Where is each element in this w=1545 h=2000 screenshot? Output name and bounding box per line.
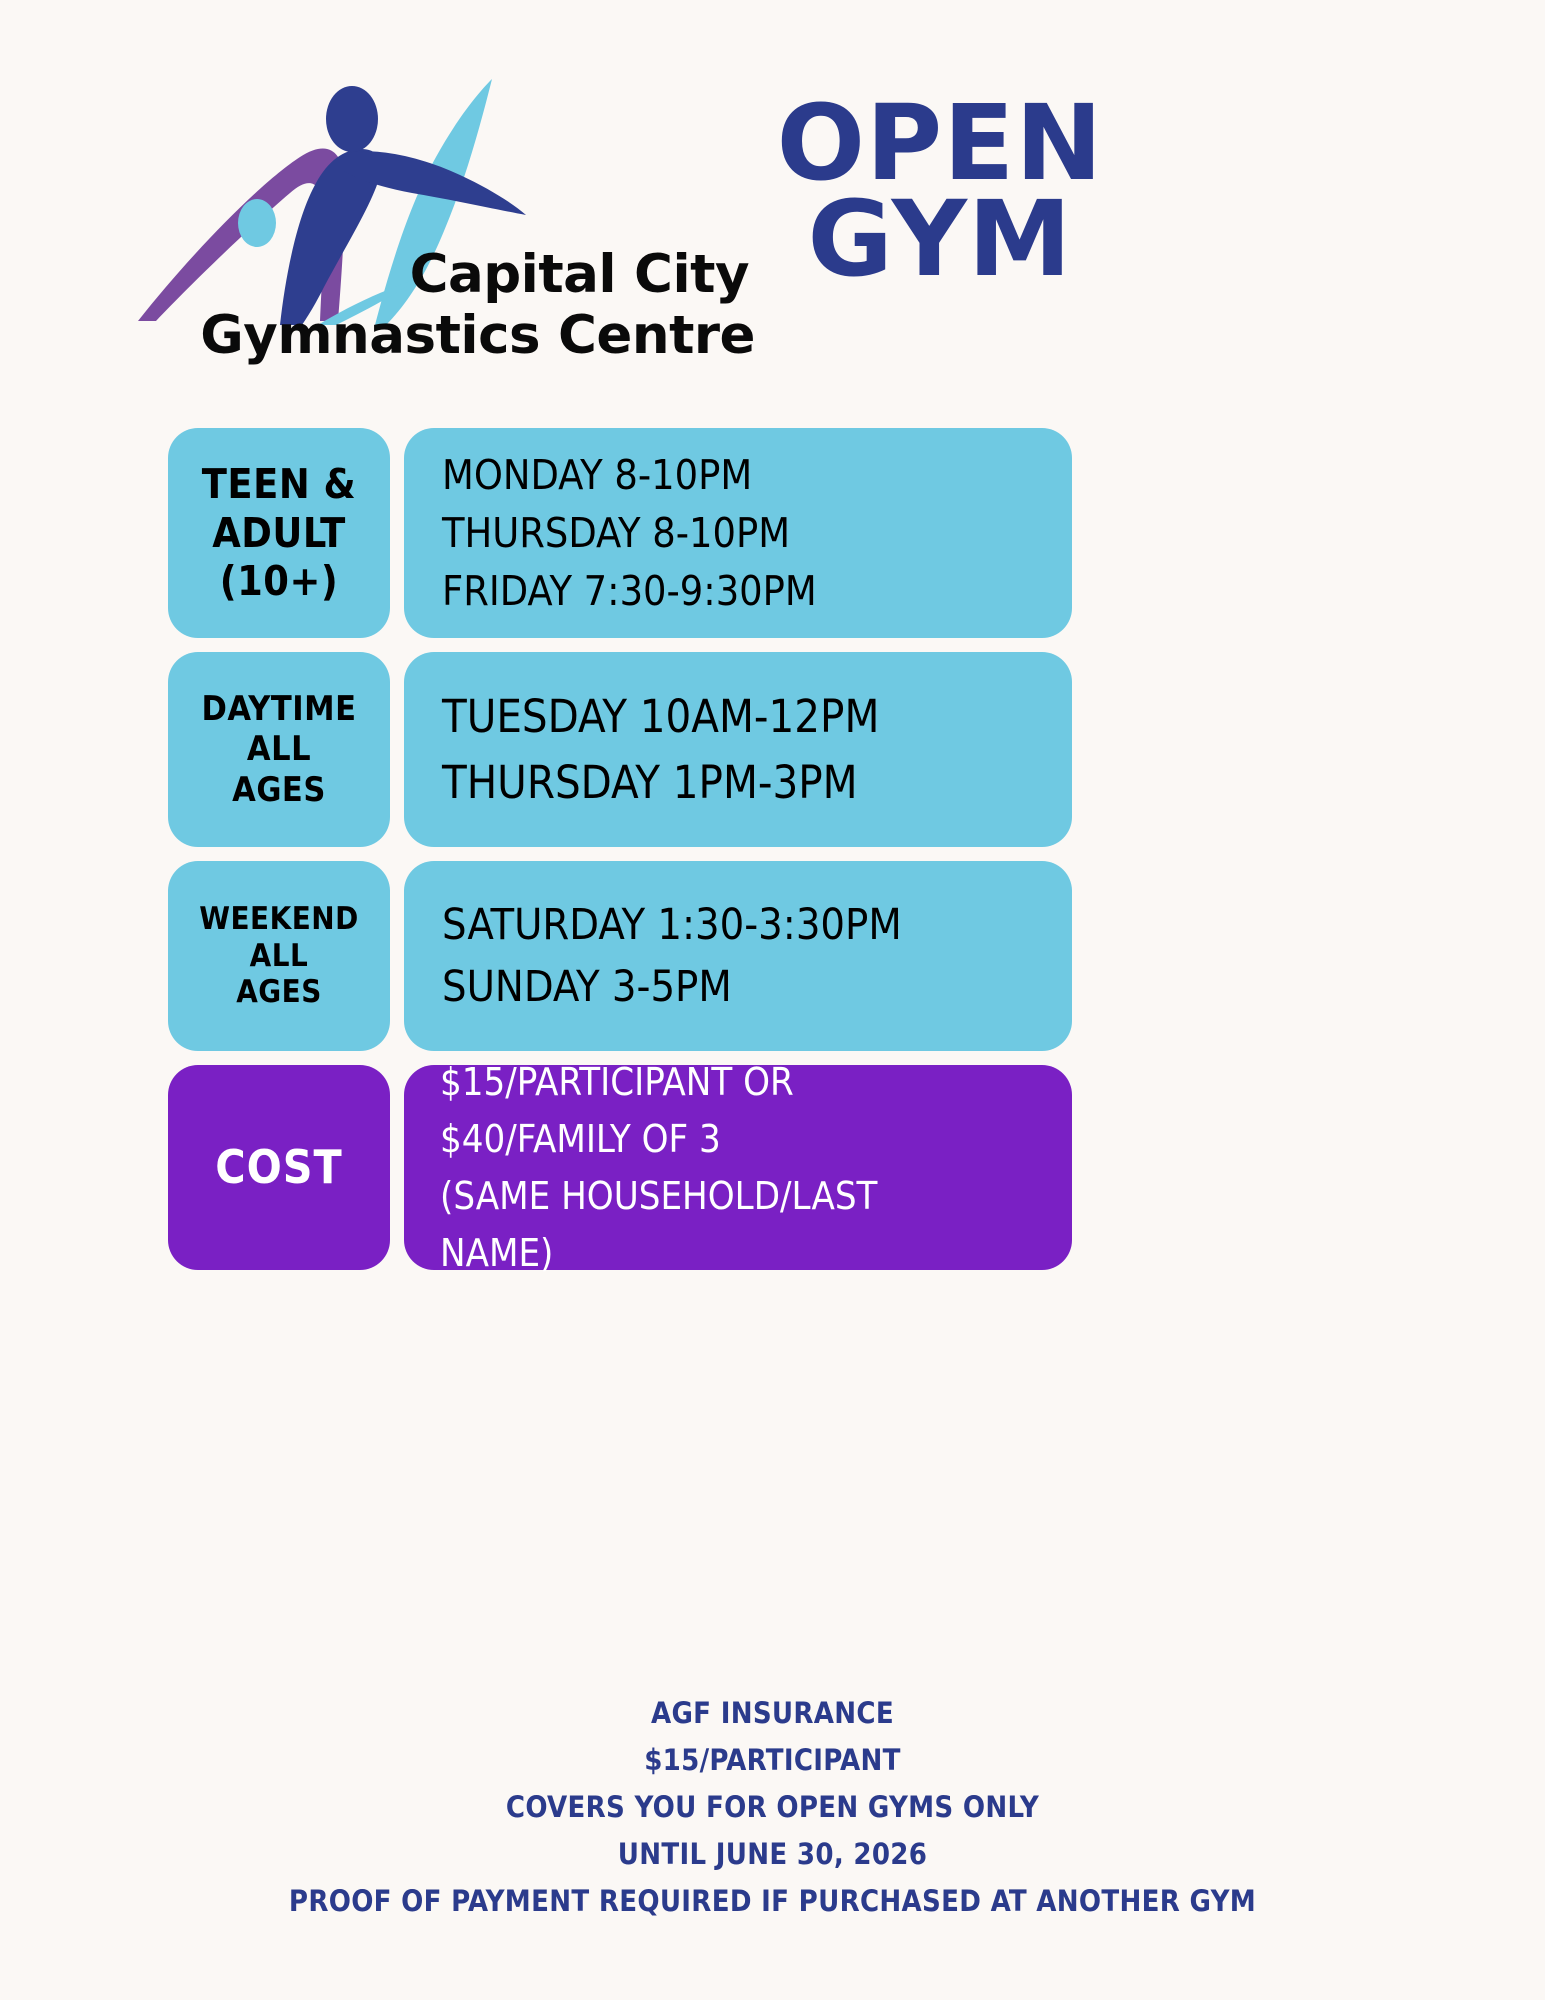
cost-details: $15/PARTICIPANT OR $40/FAMILY OF 3 (SAME… xyxy=(404,1065,1072,1270)
footnote-line: COVERS YOU FOR OPEN GYMS ONLY xyxy=(0,1784,1545,1831)
cost-line: $40/FAMILY OF 3 xyxy=(440,1111,1042,1168)
table-row: WEEKEND ALL AGES SATURDAY 1:30-3:30PM SU… xyxy=(168,861,1072,1051)
logo-wordmark: Capital City Gymnastics Centre xyxy=(195,248,755,362)
footnote-line: AGF INSURANCE xyxy=(0,1690,1545,1737)
insurance-footnote: AGF INSURANCE $15/PARTICIPANT COVERS YOU… xyxy=(0,1690,1545,1925)
footnote-line: UNTIL JUNE 30, 2026 xyxy=(0,1831,1545,1878)
schedule-time-line: SATURDAY 1:30-3:30PM xyxy=(442,894,1042,956)
cost-line: $15/PARTICIPANT OR xyxy=(440,1054,1042,1111)
cost-line: (SAME HOUSEHOLD/LAST xyxy=(440,1168,1042,1225)
schedule-row-times: TUESDAY 10AM-12PM THURSDAY 1PM-3PM xyxy=(404,652,1072,847)
column-seam-divider xyxy=(391,424,402,1724)
schedule-row-times: MONDAY 8-10PM THURSDAY 8-10PM FRIDAY 7:3… xyxy=(404,428,1072,638)
footnote-line: PROOF OF PAYMENT REQUIRED IF PURCHASED A… xyxy=(0,1878,1545,1925)
cost-line: NAME) xyxy=(440,1225,1042,1282)
table-row: TEEN & ADULT (10+) MONDAY 8-10PM THURSDA… xyxy=(168,428,1072,638)
logo-name-line-1: Capital City xyxy=(195,248,755,301)
table-row-cost: COST $15/PARTICIPANT OR $40/FAMILY OF 3 … xyxy=(168,1065,1072,1270)
label-line: DAYTIME xyxy=(201,689,356,729)
schedule-time-line: THURSDAY 8-10PM xyxy=(442,504,1042,562)
schedule-time-line: SUNDAY 3-5PM xyxy=(442,956,1042,1018)
label-line: COST xyxy=(215,1140,343,1194)
label-line: ADULT xyxy=(212,509,346,557)
label-line: ALL xyxy=(247,729,311,769)
page-title: OPEN GYM xyxy=(745,96,1135,287)
label-line: AGES xyxy=(232,770,326,810)
schedule-table: TEEN & ADULT (10+) MONDAY 8-10PM THURSDA… xyxy=(168,428,1072,1270)
label-line: (10+) xyxy=(220,557,338,605)
logo-name-line-2: Gymnastics Centre xyxy=(195,309,755,362)
label-line: TEEN & xyxy=(202,460,356,508)
page-title-line-2: GYM xyxy=(745,192,1135,288)
schedule-time-line: TUESDAY 10AM-12PM xyxy=(442,684,1042,749)
footnote-line: $15/PARTICIPANT xyxy=(0,1737,1545,1784)
cost-label: COST xyxy=(168,1065,390,1270)
poster-header: Capital City Gymnastics Centre OPEN GYM xyxy=(0,0,1545,400)
schedule-row-label: WEEKEND ALL AGES xyxy=(168,861,390,1051)
table-row: DAYTIME ALL AGES TUESDAY 10AM-12PM THURS… xyxy=(168,652,1072,847)
label-line: ALL xyxy=(250,938,309,974)
schedule-row-label: DAYTIME ALL AGES xyxy=(168,652,390,847)
schedule-time-line: MONDAY 8-10PM xyxy=(442,446,1042,504)
label-line: WEEKEND xyxy=(199,901,359,937)
schedule-row-times: SATURDAY 1:30-3:30PM SUNDAY 3-5PM xyxy=(404,861,1072,1051)
schedule-time-line: FRIDAY 7:30-9:30PM xyxy=(442,562,1042,620)
schedule-row-label: TEEN & ADULT (10+) xyxy=(168,428,390,638)
schedule-time-line: THURSDAY 1PM-3PM xyxy=(442,750,1042,815)
label-line: AGES xyxy=(236,974,322,1010)
